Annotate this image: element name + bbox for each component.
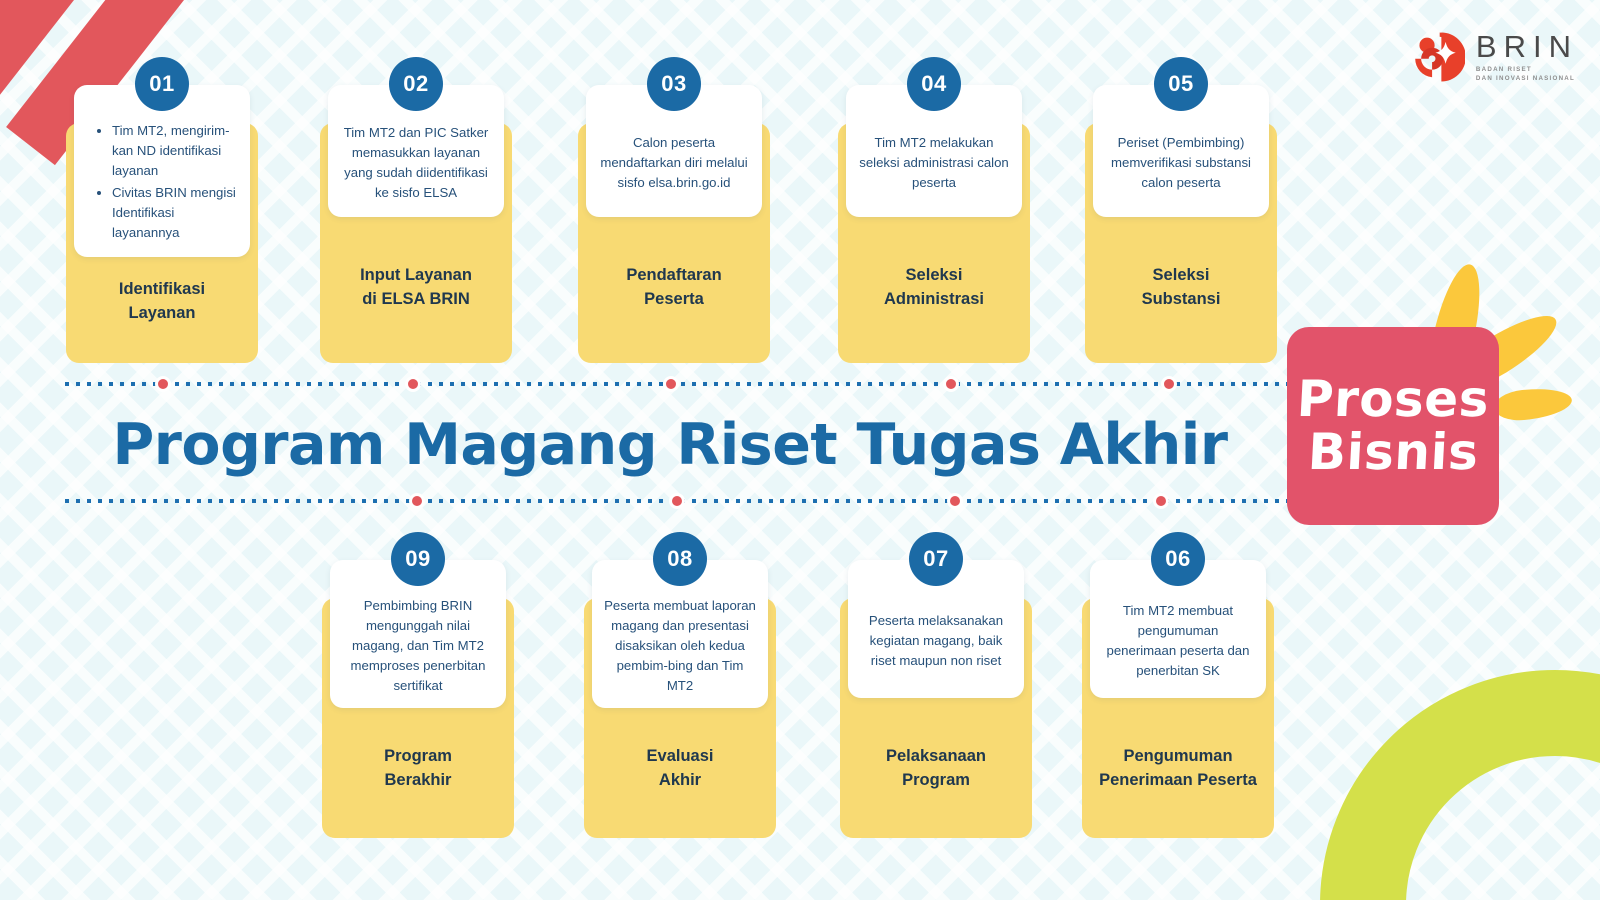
step-card-08[interactable]: 08Peserta membuat laporan magang dan pre… (584, 560, 776, 708)
step-title-line: Substansi (1085, 287, 1277, 311)
proses-bisnis-badge: Proses Bisnis (1282, 255, 1542, 545)
step-title-line: Penerimaan Peserta (1082, 768, 1274, 792)
brin-logo-text: BRIN BADAN RISET DAN INOVASI NASIONAL (1476, 31, 1578, 84)
step-title-line: Pelaksanaan (840, 744, 1032, 768)
step-title-line: Program (840, 768, 1032, 792)
badge-box: Proses Bisnis (1287, 327, 1499, 525)
step-description: Peserta membuat laporan magang dan prese… (604, 596, 756, 696)
step-card-07[interactable]: 07Peserta melaksanakan kegiatan magang, … (840, 560, 1032, 698)
step-title-line: Berakhir (322, 768, 514, 792)
step-title: Input Layanandi ELSA BRIN (320, 263, 512, 312)
timeline-dot (1153, 493, 1169, 509)
step-card-05[interactable]: 05Periset (Pembimbing) memverifikasi sub… (1085, 85, 1277, 217)
step-number-badge: 09 (391, 532, 445, 586)
step-card-01[interactable]: 01Tim MT2, mengirim-kan ND identifikasi … (66, 85, 258, 257)
timeline-dot (947, 493, 963, 509)
timeline-dot (409, 493, 425, 509)
step-title: SeleksiSubstansi (1085, 263, 1277, 312)
step-card-panel: 07Peserta melaksanakan kegiatan magang, … (848, 560, 1024, 698)
step-number-badge: 04 (907, 57, 961, 111)
step-title-line: di ELSA BRIN (320, 287, 512, 311)
timeline-dot (1161, 376, 1177, 392)
step-number-badge: 01 (135, 57, 189, 111)
step-card-panel: 02Tim MT2 dan PIC Satker memasukkan laya… (328, 85, 504, 217)
step-title-line: Pendaftaran (578, 263, 770, 287)
step-number-badge: 02 (389, 57, 443, 111)
timeline-rail-top (65, 382, 1301, 386)
step-title: EvaluasiAkhir (584, 744, 776, 793)
step-title: SeleksiAdministrasi (838, 263, 1030, 312)
step-title-line: Identifikasi (66, 277, 258, 301)
badge-line-2: Bisnis (1306, 427, 1479, 478)
step-description: Tim MT2 melakukan seleksi administrasi c… (858, 133, 1010, 193)
infographic-canvas: BRIN BADAN RISET DAN INOVASI NASIONAL Pr… (0, 0, 1600, 900)
step-title: PelaksanaanProgram (840, 744, 1032, 793)
step-title: IdentifikasiLayanan (66, 277, 258, 326)
step-bullet-item: Civitas BRIN mengisi Identifikasi layana… (112, 183, 238, 243)
step-title-line: Peserta (578, 287, 770, 311)
step-title: PengumumanPenerimaan Peserta (1082, 744, 1274, 793)
step-number-badge: 05 (1154, 57, 1208, 111)
badge-line-1: Proses (1296, 374, 1491, 425)
brin-subtitle-line1: BADAN RISET (1476, 66, 1578, 75)
timeline-dot (663, 376, 679, 392)
step-description: Calon peserta mendaftarkan diri melalui … (598, 133, 750, 193)
step-card-04[interactable]: 04Tim MT2 melakukan seleksi administrasi… (838, 85, 1030, 217)
timeline-dot (943, 376, 959, 392)
timeline-dot (405, 376, 421, 392)
step-number-badge: 08 (653, 532, 707, 586)
step-title: ProgramBerakhir (322, 744, 514, 793)
step-card-panel: 04Tim MT2 melakukan seleksi administrasi… (846, 85, 1022, 217)
step-title-line: Administrasi (838, 287, 1030, 311)
step-card-09[interactable]: 09Pembimbing BRIN mengunggah nilai magan… (322, 560, 514, 708)
step-card-panel: 05Periset (Pembimbing) memverifikasi sub… (1093, 85, 1269, 217)
step-card-03[interactable]: 03Calon peserta mendaftarkan diri melalu… (578, 85, 770, 217)
step-number-badge: 07 (909, 532, 963, 586)
step-description: Periset (Pembimbing) memverifikasi subst… (1105, 133, 1257, 193)
step-title-line: Program (322, 744, 514, 768)
step-title-line: Layanan (66, 301, 258, 325)
step-card-panel: 03Calon peserta mendaftarkan diri melalu… (586, 85, 762, 217)
brin-logo-mark (1411, 30, 1465, 84)
brin-logo: BRIN BADAN RISET DAN INOVASI NASIONAL (1411, 30, 1578, 84)
brin-wordmark: BRIN (1476, 31, 1578, 62)
step-title-line: Evaluasi (584, 744, 776, 768)
step-title-line: Seleksi (838, 263, 1030, 287)
timeline-dot (155, 376, 171, 392)
step-bullet-item: Tim MT2, mengirim-kan ND identifikasi la… (112, 121, 238, 181)
step-card-02[interactable]: 02Tim MT2 dan PIC Satker memasukkan laya… (320, 85, 512, 217)
step-description: Tim MT2 membuat pengumuman penerimaan pe… (1102, 601, 1254, 681)
step-card-panel: 09Pembimbing BRIN mengunggah nilai magan… (330, 560, 506, 708)
step-description: Tim MT2, mengirim-kan ND identifikasi la… (86, 121, 238, 245)
step-title-line: Input Layanan (320, 263, 512, 287)
step-bullet-list: Tim MT2, mengirim-kan ND identifikasi la… (100, 121, 238, 243)
step-title: PendaftaranPeserta (578, 263, 770, 312)
step-description: Pembimbing BRIN mengunggah nilai magang,… (342, 596, 494, 696)
step-card-panel: 06Tim MT2 membuat pengumuman penerimaan … (1090, 560, 1266, 698)
step-number-badge: 06 (1151, 532, 1205, 586)
step-number-badge: 03 (647, 57, 701, 111)
decorative-lime-arc (1320, 670, 1600, 900)
step-card-panel: 08Peserta membuat laporan magang dan pre… (592, 560, 768, 708)
step-description: Peserta melaksanakan kegiatan magang, ba… (860, 611, 1012, 671)
step-title-line: Seleksi (1085, 263, 1277, 287)
step-title-line: Akhir (584, 768, 776, 792)
timeline-dot (669, 493, 685, 509)
step-card-06[interactable]: 06Tim MT2 membuat pengumuman penerimaan … (1082, 560, 1274, 698)
step-description: Tim MT2 dan PIC Satker memasukkan layana… (340, 123, 492, 203)
step-card-panel: 01Tim MT2, mengirim-kan ND identifikasi … (74, 85, 250, 257)
brin-subtitle-line2: DAN INOVASI NASIONAL (1476, 75, 1578, 84)
step-title-line: Pengumuman (1082, 744, 1274, 768)
